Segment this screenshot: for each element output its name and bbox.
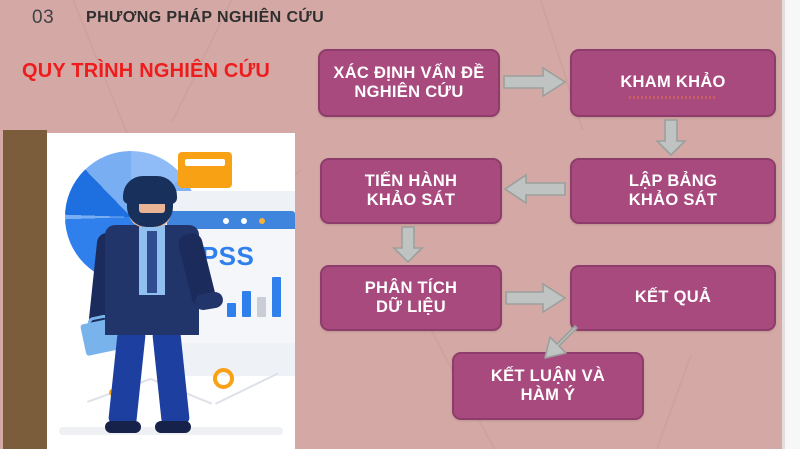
flow-node-line: PHÂN TÍCH (365, 279, 458, 297)
flow-node-line: TIẾN HÀNH (365, 172, 458, 190)
flow-arrow-down-left-n6-n7 (533, 322, 579, 364)
flow-arrow-right-n1-n2 (503, 66, 567, 98)
person-tie (147, 231, 157, 293)
flow-node-lap-bang-khao-sat[interactable]: LẬP BẢNGKHẢO SÁT (570, 158, 776, 224)
flow-node-line: KHAM KHẢO (620, 73, 725, 91)
flow-arrow-down-n2-n3 (655, 119, 687, 157)
flow-node-line: DỮ LIỆU (376, 298, 446, 316)
section-number: 03 (32, 7, 54, 29)
flow-node-line: HÀM Ý (521, 386, 576, 404)
illustration-image: SPSS (47, 133, 295, 449)
flow-arrow-down-n4-n5 (392, 226, 424, 264)
left-brown-bar (3, 130, 47, 449)
flow-arrow-right-n5-n6 (505, 282, 567, 314)
right-white-strip (785, 0, 800, 449)
flow-node-line: NGHIÊN CỨU (354, 83, 463, 101)
person-hair (123, 176, 177, 204)
browser-dot-icon (241, 218, 247, 224)
flow-node-ket-qua[interactable]: KẾT QUẢ (570, 265, 776, 331)
browser-dot-icon (259, 218, 265, 224)
decorative-line (649, 355, 691, 449)
flow-node-line: KẾT LUẬN VÀ (491, 367, 605, 385)
flow-node-xac-dinh-van-de-nghien-cuu[interactable]: XÁC ĐỊNH VẤN ĐỀNGHIÊN CỨU (318, 49, 500, 117)
section-title: PHƯƠNG PHÁP NGHIÊN CỨU (86, 9, 324, 27)
line-chart-ring-point (213, 368, 234, 389)
flow-node-line: LẬP BẢNG (629, 172, 717, 190)
flow-node-kham-khao[interactable]: KHAM KHẢO (570, 49, 776, 117)
person-legs (111, 329, 193, 433)
flow-node-tien-hanh-khao-sat[interactable]: TIẾN HÀNHKHẢO SÁT (320, 158, 502, 224)
flow-node-phan-tich-du-lieu[interactable]: PHÂN TÍCHDỮ LIỆU (320, 265, 502, 331)
flow-arrow-left-n3-n4 (504, 173, 566, 205)
spellcheck-underline (629, 96, 717, 99)
flow-node-line: XÁC ĐỊNH VẤN ĐỀ (333, 64, 484, 82)
page-title: QUY TRÌNH NGHIÊN CỨU (22, 60, 270, 83)
browser-dot-icon (223, 218, 229, 224)
flow-node-line: KẾT QUẢ (635, 288, 711, 306)
slide-canvas: 03 PHƯƠNG PHÁP NGHIÊN CỨU QUY TRÌNH NGHI… (0, 0, 800, 449)
bar-chart-icon (225, 275, 287, 317)
flow-node-line: KHẢO SÁT (367, 191, 456, 209)
orange-card-icon (178, 152, 232, 188)
flow-node-line: KHẢO SÁT (629, 191, 718, 209)
